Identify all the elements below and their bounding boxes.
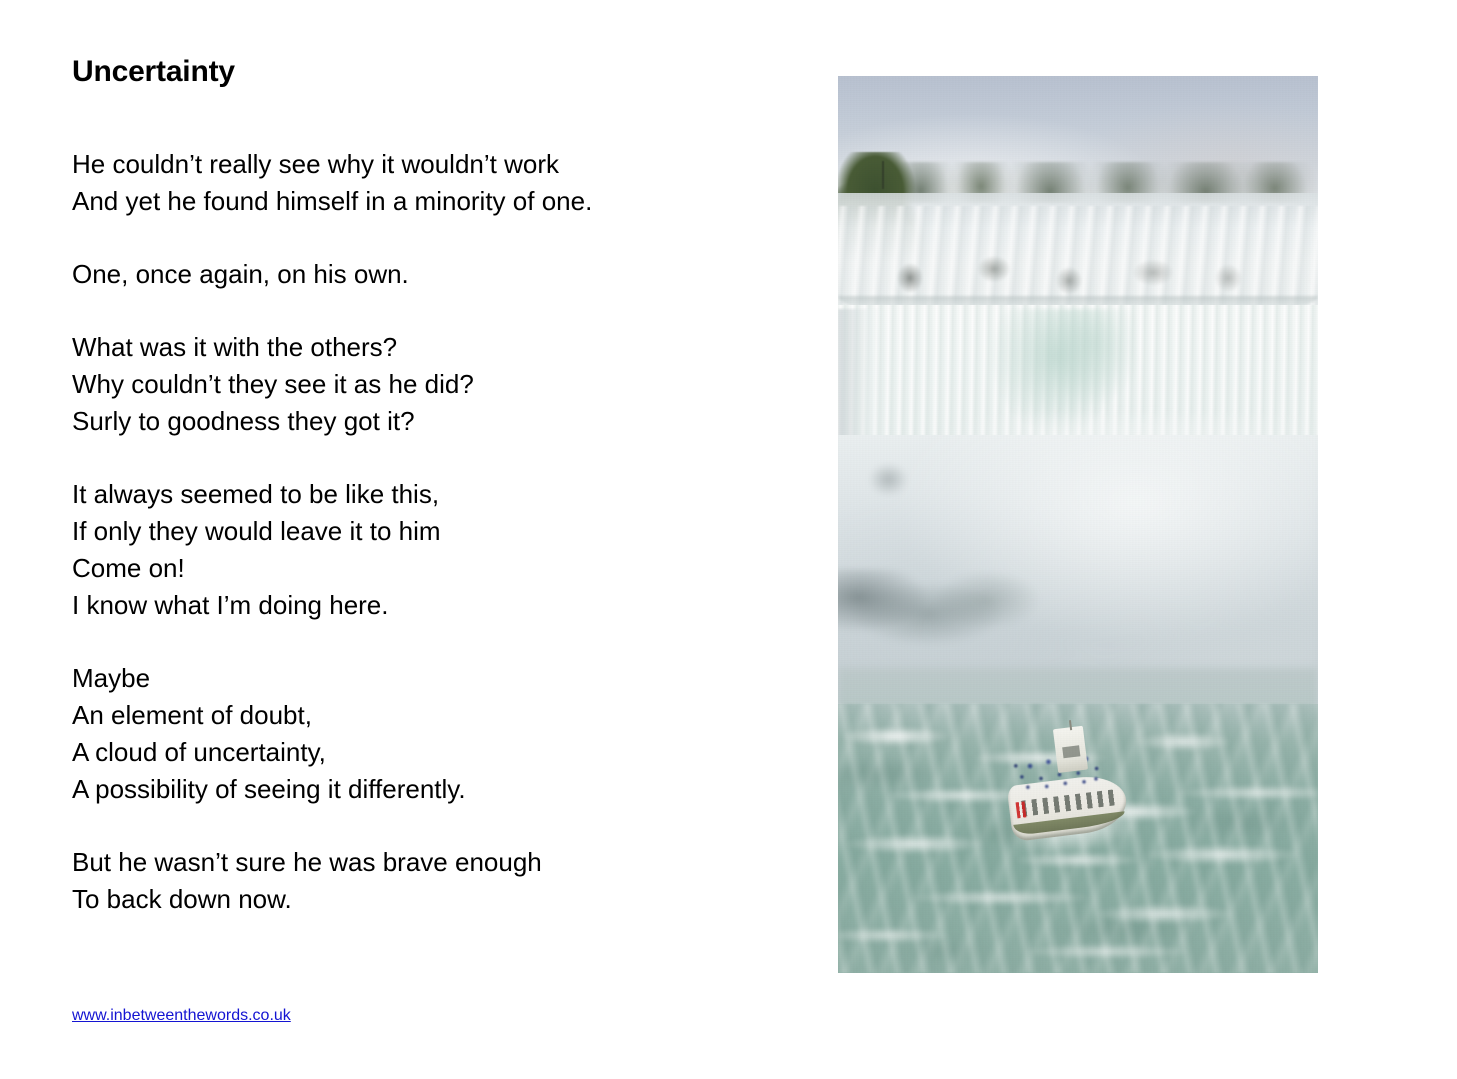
mist-dark-patch xyxy=(862,457,915,502)
boat-wheelhouse xyxy=(1053,726,1089,773)
boat-mast xyxy=(1068,721,1071,731)
poem-line: Surly to goodness they got it? xyxy=(72,403,792,440)
poem-stanza: But he wasn’t sure he was brave enough T… xyxy=(72,844,792,918)
boat-flag xyxy=(1015,802,1026,819)
waterfall-photo xyxy=(838,76,1318,973)
poem-line: If only they would leave it to him xyxy=(72,513,792,550)
poem-line: Maybe xyxy=(72,660,792,697)
poem-line: One, once again, on his own. xyxy=(72,256,792,293)
poem-line: What was it with the others? xyxy=(72,329,792,366)
poem-stanza: It always seemed to be like this, If onl… xyxy=(72,476,792,624)
poem-line: A cloud of uncertainty, xyxy=(72,734,792,771)
poem-line: To back down now. xyxy=(72,881,792,918)
poem-line: It always seemed to be like this, xyxy=(72,476,792,513)
poem-line: An element of doubt, xyxy=(72,697,792,734)
poem-line: And yet he found himself in a minority o… xyxy=(72,183,792,220)
poem-body: He couldn’t really see why it wouldn’t w… xyxy=(72,146,792,918)
poem-stanza: What was it with the others? Why couldn’… xyxy=(72,329,792,440)
page-title: Uncertainty xyxy=(72,54,792,90)
photo-scene xyxy=(838,76,1318,973)
poem-line: But he wasn’t sure he was brave enough xyxy=(72,844,792,881)
submerged-rock-shelf xyxy=(838,569,1049,650)
poem-container: Uncertainty He couldn’t really see why i… xyxy=(72,54,792,918)
poem-line: A possibility of seeing it differently. xyxy=(72,771,792,808)
poem-stanza: He couldn’t really see why it wouldn’t w… xyxy=(72,146,792,220)
poem-stanza: Maybe An element of doubt, A cloud of un… xyxy=(72,660,792,808)
website-link[interactable]: www.inbetweenthewords.co.uk xyxy=(72,1006,291,1026)
poem-line: He couldn’t really see why it wouldn’t w… xyxy=(72,146,792,183)
poem-line: Come on! xyxy=(72,550,792,587)
tour-boat xyxy=(997,719,1138,855)
poem-line: I know what I’m doing here. xyxy=(72,587,792,624)
poem-line: Why couldn’t they see it as he did? xyxy=(72,366,792,403)
poem-stanza: One, once again, on his own. xyxy=(72,256,792,293)
rapids-rocks xyxy=(857,251,1299,296)
